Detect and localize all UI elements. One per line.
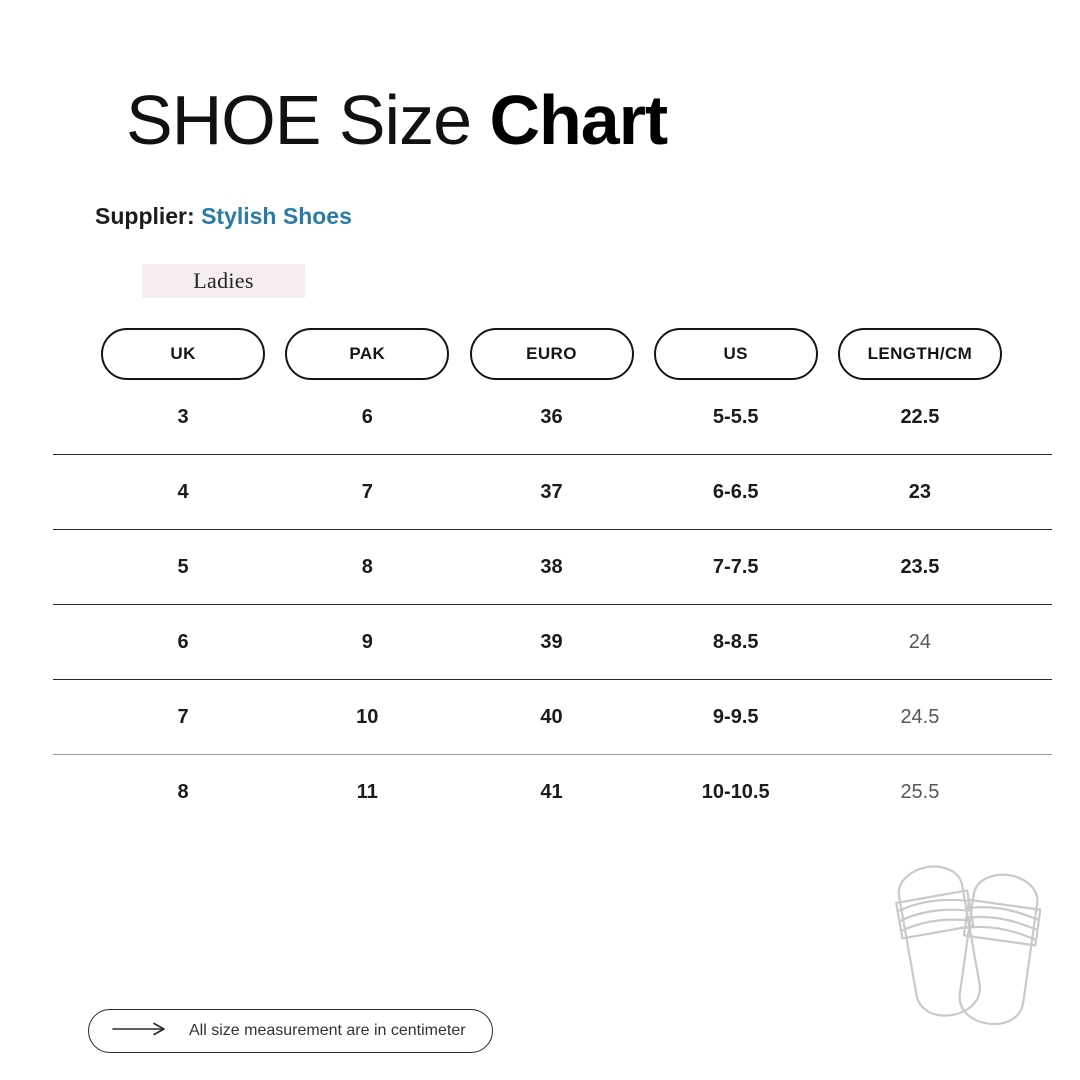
cell-pak: 8 — [275, 556, 459, 579]
header-pill-pak: PAK — [285, 328, 449, 380]
header-pill-us-label: US — [723, 344, 747, 364]
cell-euro: 40 — [459, 706, 643, 729]
cell-pak: 10 — [275, 706, 459, 729]
cell-us: 5-5.5 — [644, 406, 828, 429]
cell-uk: 7 — [91, 706, 275, 729]
cell-us: 6-6.5 — [644, 481, 828, 504]
slide-sandals-illustration — [878, 862, 1046, 1027]
column-header-us: US — [644, 328, 828, 380]
cell-euro: 38 — [459, 556, 643, 579]
cell-pak: 9 — [275, 631, 459, 654]
cell-pak: 11 — [275, 781, 459, 804]
shoe-size-chart-page: SHOE Size Chart Supplier: Stylish Shoes … — [0, 0, 1080, 1080]
header-pill-uk: UK — [101, 328, 265, 380]
footer-note: All size measurement are in centimeter — [88, 1009, 493, 1053]
size-table-header-row: UK PAK EURO US LENGTH/CM — [91, 328, 1012, 380]
supplier-label: Supplier: — [95, 203, 195, 229]
column-header-pak: PAK — [275, 328, 459, 380]
cell-euro: 41 — [459, 781, 643, 804]
cell-us: 10-10.5 — [644, 781, 828, 804]
cell-pak: 6 — [275, 406, 459, 429]
cell-us: 7-7.5 — [644, 556, 828, 579]
cell-length-cm: 23 — [828, 481, 1012, 504]
table-row: 4 7 37 6-6.5 23 — [91, 455, 1012, 529]
cell-euro: 39 — [459, 631, 643, 654]
arrow-right-icon — [111, 1022, 167, 1041]
cell-length-cm: 24.5 — [828, 706, 1012, 729]
supplier-name: Stylish Shoes — [201, 203, 352, 229]
column-header-euro: EURO — [459, 328, 643, 380]
cell-pak: 7 — [275, 481, 459, 504]
cell-us: 8-8.5 — [644, 631, 828, 654]
column-header-length-cm: LENGTH/CM — [828, 328, 1012, 380]
cell-euro: 36 — [459, 406, 643, 429]
category-chip: Ladies — [142, 264, 305, 298]
footer-note-text: All size measurement are in centimeter — [189, 1022, 466, 1040]
cell-uk: 5 — [91, 556, 275, 579]
table-row: 8 11 41 10-10.5 25.5 — [91, 755, 1012, 829]
header-pill-uk-label: UK — [170, 344, 195, 364]
cell-length-cm: 25.5 — [828, 781, 1012, 804]
page-title: SHOE Size Chart — [126, 78, 667, 162]
cell-uk: 3 — [91, 406, 275, 429]
cell-us: 9-9.5 — [644, 706, 828, 729]
header-pill-euro-label: EURO — [526, 344, 577, 364]
table-row: 7 10 40 9-9.5 24.5 — [91, 680, 1012, 754]
supplier-line: Supplier: Stylish Shoes — [95, 202, 352, 230]
table-row: 3 6 36 5-5.5 22.5 — [91, 380, 1012, 454]
size-table: UK PAK EURO US LENGTH/CM — [53, 328, 1052, 829]
category-chip-label: Ladies — [193, 268, 253, 294]
page-title-light: SHOE Size — [126, 81, 489, 159]
cell-euro: 37 — [459, 481, 643, 504]
header-pill-euro: EURO — [470, 328, 634, 380]
cell-uk: 6 — [91, 631, 275, 654]
table-row: 5 8 38 7-7.5 23.5 — [91, 530, 1012, 604]
table-row: 6 9 39 8-8.5 24 — [91, 605, 1012, 679]
cell-length-cm: 23.5 — [828, 556, 1012, 579]
header-pill-length-cm-label: LENGTH/CM — [868, 344, 973, 364]
cell-uk: 8 — [91, 781, 275, 804]
cell-length-cm: 24 — [828, 631, 1012, 654]
column-header-uk: UK — [91, 328, 275, 380]
cell-length-cm: 22.5 — [828, 406, 1012, 429]
header-pill-length-cm: LENGTH/CM — [838, 328, 1002, 380]
page-title-bold: Chart — [489, 81, 667, 159]
cell-uk: 4 — [91, 481, 275, 504]
header-pill-pak-label: PAK — [349, 344, 385, 364]
header-pill-us: US — [654, 328, 818, 380]
size-table-body: 3 6 36 5-5.5 22.5 4 7 37 6-6.5 23 5 8 38… — [53, 380, 1052, 829]
